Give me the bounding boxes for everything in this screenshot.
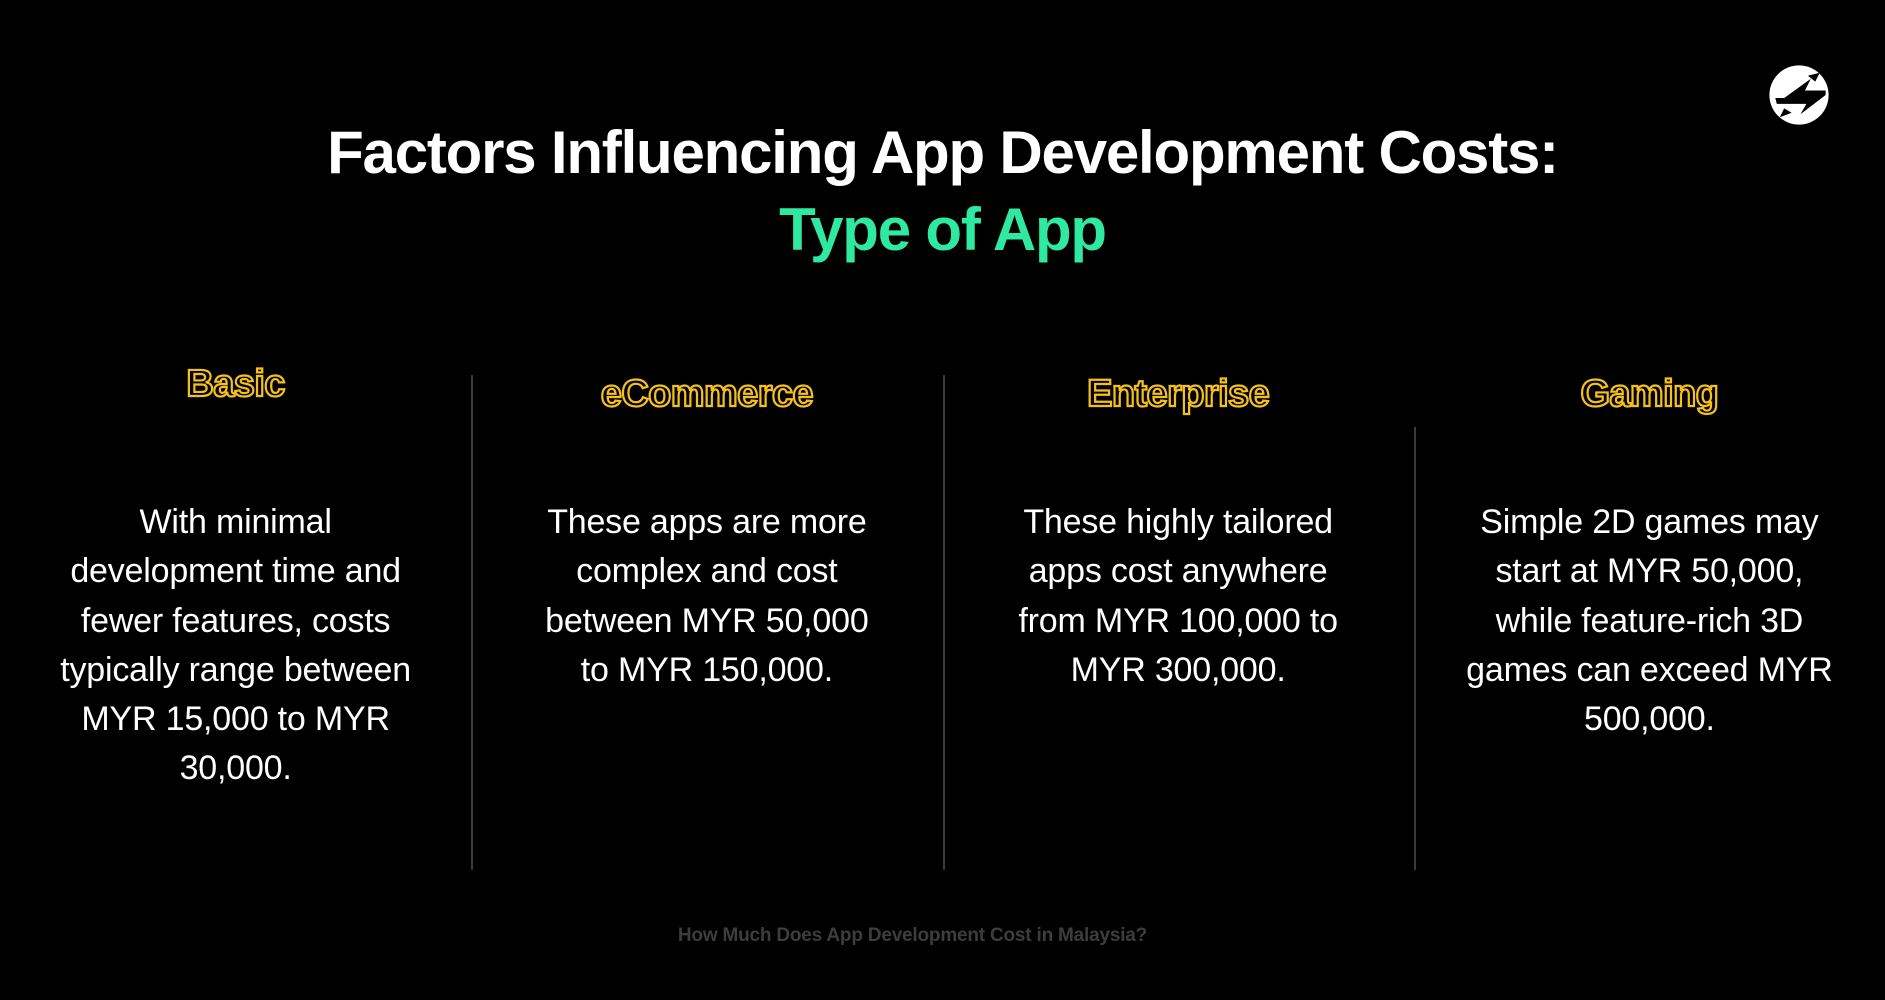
- footer: How Much Does App Development Cost in Ma…: [0, 925, 1885, 947]
- column-heading-basic: Basic: [186, 363, 284, 406]
- title-line-accent: Type of App: [0, 195, 1885, 266]
- column-ecommerce: eCommerce These apps are more complex an…: [471, 355, 942, 875]
- comparison-columns: Basic With minimal development time and …: [0, 355, 1885, 875]
- column-body-basic: With minimal development time and fewer …: [56, 498, 416, 794]
- column-heading-enterprise: Enterprise: [1087, 373, 1269, 416]
- page-title: Factors Influencing App Development Cost…: [0, 118, 1885, 266]
- column-heading-ecommerce: eCommerce: [601, 373, 813, 416]
- column-body-gaming: Simple 2D games may start at MYR 50,000,…: [1459, 498, 1839, 744]
- column-body-enterprise: These highly tailored apps cost anywhere…: [998, 498, 1358, 695]
- column-gaming: Gaming Simple 2D games may start at MYR …: [1414, 355, 1885, 875]
- footer-caption: How Much Does App Development Cost in Ma…: [678, 925, 1147, 946]
- column-body-ecommerce: These apps are more complex and cost bet…: [527, 498, 887, 695]
- column-enterprise: Enterprise These highly tailored apps co…: [943, 355, 1414, 875]
- title-line-primary: Factors Influencing App Development Cost…: [0, 118, 1885, 189]
- column-basic: Basic With minimal development time and …: [0, 355, 471, 875]
- column-heading-gaming: Gaming: [1580, 373, 1718, 416]
